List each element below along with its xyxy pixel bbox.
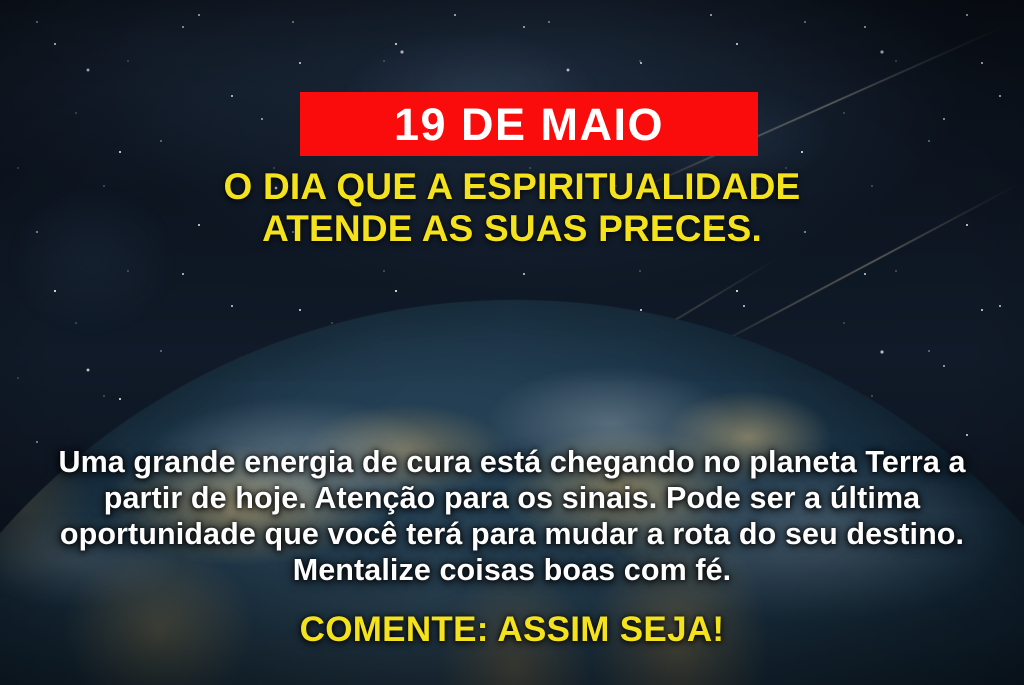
date-badge-label: 19 DE MAIO [394,102,664,147]
headline-line-2: ATENDE AS SUAS PRECES. [0,208,1024,250]
date-badge: 19 DE MAIO [300,92,758,156]
body-copy: Uma grande energia de cura está chegando… [58,444,966,589]
headline: O DIA QUE A ESPIRITUALIDADE ATENDE AS SU… [0,166,1024,250]
poster-canvas: 19 DE MAIO O DIA QUE A ESPIRITUALIDADE A… [0,0,1024,685]
body-copy-line: de hoje. Atenção para os sinais. Pode [191,481,741,515]
body-copy-line: terá para mudar a rota do seu [406,517,838,551]
poster-content: 19 DE MAIO O DIA QUE A ESPIRITUALIDADE A… [0,0,1024,685]
body-copy-line: Uma grande energia de cura está [58,445,541,479]
headline-line-1: O DIA QUE A ESPIRITUALIDADE [0,166,1024,208]
cta-text: COMENTE: ASSIM SEJA! [0,612,1024,647]
